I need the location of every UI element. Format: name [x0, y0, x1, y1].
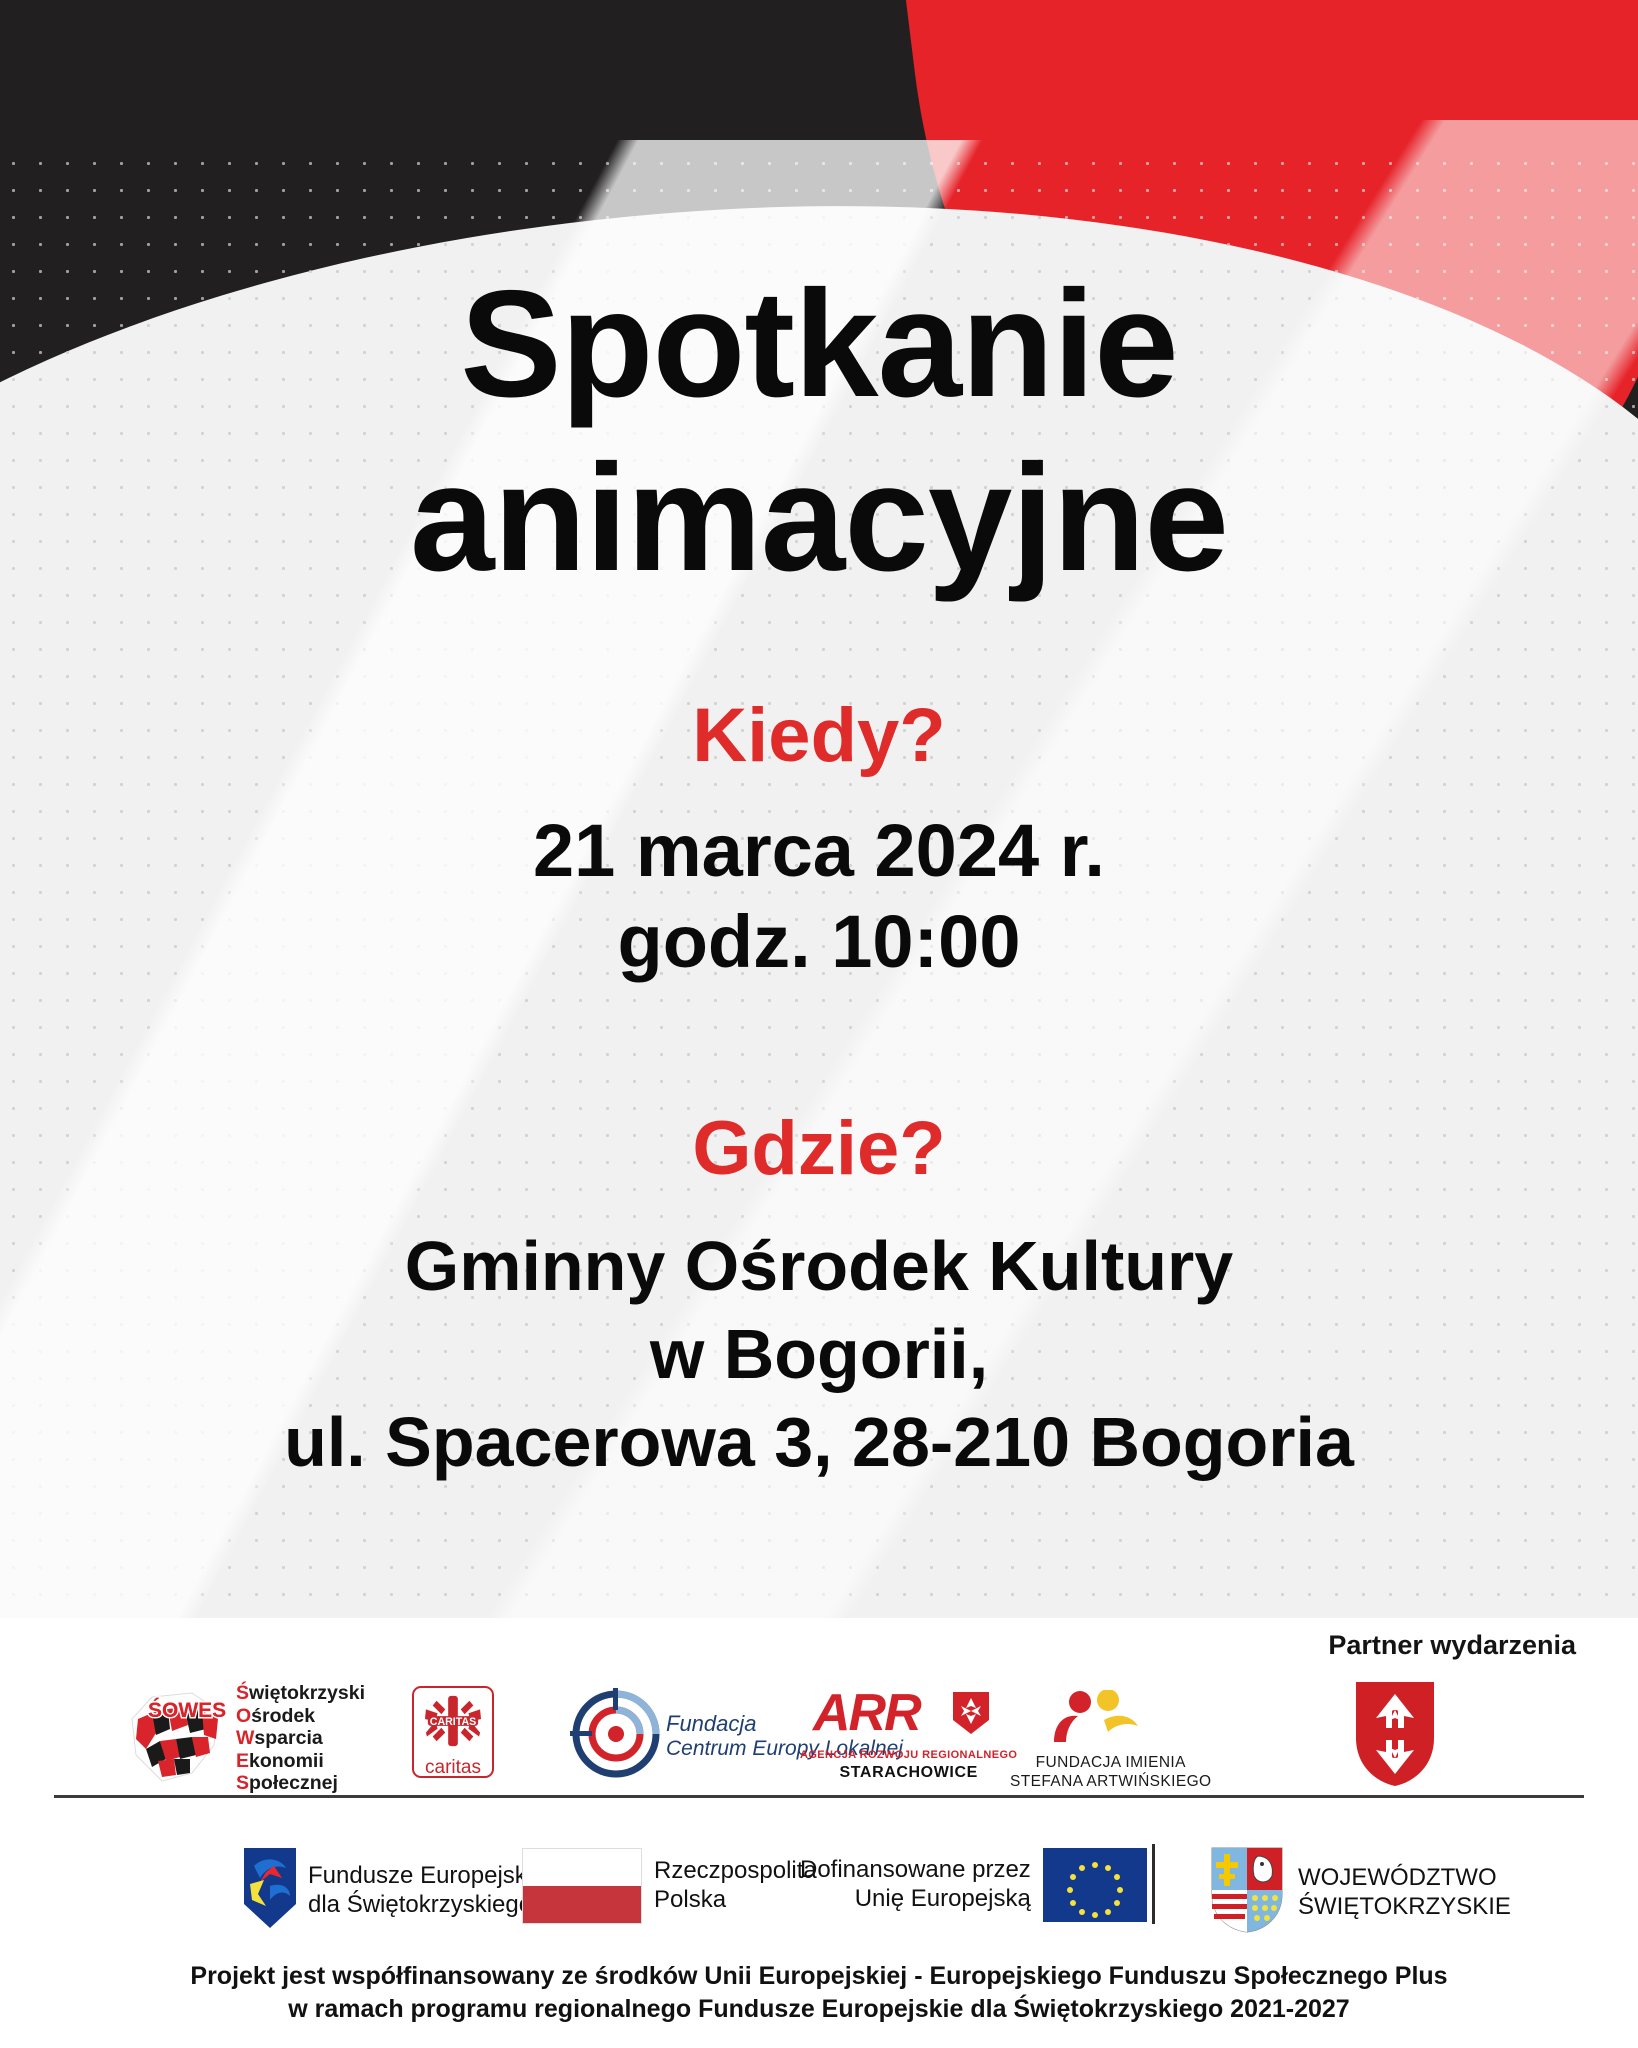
- logo-rzeczpospolita-polska: Rzeczpospolita Polska: [522, 1848, 817, 1924]
- funding-disclaimer-line-1: Projekt jest współfinansowany ze środków…: [0, 1960, 1638, 1993]
- fundacja-artwinskiego-wordmark: FUNDACJA IMIENIA STEFANA ARTWIŃSKIEGO: [1010, 1753, 1212, 1792]
- svg-text:ARR: ARR: [811, 1684, 922, 1742]
- swietokrzyskie-coat-of-arms-icon: [1210, 1846, 1284, 1939]
- rzeczpospolita-polska-line-2: Polska: [654, 1886, 817, 1915]
- sowes-wordmark: Świętokrzyski Ośrodek Wsparcia Ekonomii …: [236, 1682, 365, 1795]
- page-title: Spotkanie animacyjne: [0, 268, 1638, 594]
- fundacja-artwinskiego-line-1: FUNDACJA IMIENIA: [1010, 1753, 1212, 1772]
- wojewodztwo-swietokrzyskie-wordmark: WOJEWÓDZTWO ŚWIĘTOKRZYSKIE: [1298, 1864, 1511, 1922]
- two-people-icon: [1046, 1690, 1176, 1749]
- fundusze-europejskie-wordmark: Fundusze Europejskie dla Świętokrzyskieg…: [308, 1862, 545, 1920]
- sowes-line-5: Społecznej: [236, 1772, 365, 1795]
- logo-unia-europejska: Dofinansowane przez Unię Europejską: [800, 1848, 1147, 1922]
- where-heading: Gdzie?: [0, 1105, 1638, 1192]
- eu-flag-icon: [1043, 1848, 1147, 1922]
- fundacja-cel-target-icon: [570, 1688, 662, 1785]
- event-poster: Spotkanie animacyjne Kiedy? 21 marca 202…: [0, 0, 1638, 2048]
- vertical-divider: [1152, 1844, 1155, 1924]
- unia-europejska-wordmark: Dofinansowane przez Unię Europejską: [800, 1856, 1031, 1914]
- fundusze-europejskie-icon: [240, 1848, 296, 1933]
- when-details: 21 marca 2024 r. godz. 10:00: [0, 805, 1638, 987]
- arr-subtitle-2: STARACHOWICE: [839, 1764, 977, 1782]
- title-line-1: Spotkanie: [460, 259, 1177, 429]
- bogoria-coat-of-arms-icon: [1352, 1680, 1438, 1788]
- svg-text:CARITAS: CARITAS: [430, 1716, 476, 1728]
- when-heading: Kiedy?: [0, 692, 1638, 779]
- logo-sowes: ŚOWES ŚOWES Świętokrzyski Ośrodek Wsparc…: [122, 1682, 365, 1795]
- sowes-line-1: Świętokrzyski: [236, 1682, 365, 1705]
- sowes-map-icon: ŚOWES ŚOWES: [122, 1689, 230, 1789]
- logo-fundusze-europejskie: Fundusze Europejskie dla Świętokrzyskieg…: [240, 1848, 545, 1933]
- caritas-wordmark: caritas: [425, 1757, 481, 1779]
- funding-disclaimer: Projekt jest współfinansowany ze środków…: [0, 1960, 1638, 2026]
- logo-fundacja-artwinskiego: FUNDACJA IMIENIA STEFANA ARTWIŃSKIEGO: [1010, 1690, 1212, 1792]
- partner-label: Partner wydarzenia: [1328, 1630, 1576, 1661]
- rzeczpospolita-polska-wordmark: Rzeczpospolita Polska: [654, 1857, 817, 1915]
- fundacja-artwinskiego-line-2: STEFANA ARTWIŃSKIEGO: [1010, 1772, 1212, 1791]
- divider-line: [54, 1795, 1584, 1798]
- event-date: 21 marca 2024 r.: [0, 805, 1638, 896]
- rzeczpospolita-polska-line-1: Rzeczpospolita: [654, 1857, 817, 1886]
- logo-caritas: CARITAS caritas: [412, 1686, 494, 1778]
- arr-subtitle-1: AGENCJA ROZWOJU REGIONALNEGO: [800, 1749, 1017, 1761]
- sowes-line-2: Ośrodek: [236, 1705, 365, 1728]
- wojewodztwo-swietokrzyskie-line-2: ŚWIĘTOKRZYSKIE: [1298, 1893, 1511, 1922]
- venue-city: w Bogorii,: [0, 1310, 1638, 1398]
- funding-disclaimer-line-2: w ramach programu regionalnego Fundusze …: [0, 1993, 1638, 2026]
- event-time: godz. 10:00: [0, 896, 1638, 987]
- poland-flag-icon: [522, 1848, 642, 1924]
- fundusze-europejskie-line-1: Fundusze Europejskie: [308, 1862, 545, 1891]
- caritas-cross-icon: CARITAS: [424, 1692, 482, 1755]
- where-details: Gminny Ośrodek Kultury w Bogorii, ul. Sp…: [0, 1222, 1638, 1487]
- svg-text:ŚOWES: ŚOWES: [148, 1698, 226, 1722]
- venue-name: Gminny Ośrodek Kultury: [0, 1222, 1638, 1310]
- wojewodztwo-swietokrzyskie-line-1: WOJEWÓDZTWO: [1298, 1864, 1511, 1893]
- unia-europejska-line-1: Dofinansowane przez: [800, 1856, 1031, 1885]
- eu-funding-logo-strip: Fundusze Europejskie dla Świętokrzyskieg…: [0, 1838, 1638, 1948]
- logo-wojewodztwo-swietokrzyskie: WOJEWÓDZTWO ŚWIĘTOKRZYSKIE: [1210, 1846, 1511, 1939]
- arr-acronym-icon: ARR: [811, 1684, 1007, 1747]
- unia-europejska-line-2: Unię Europejską: [800, 1885, 1031, 1914]
- sowes-line-3: Wsparcia: [236, 1727, 365, 1750]
- poster-content: Spotkanie animacyjne Kiedy? 21 marca 202…: [0, 0, 1638, 2048]
- venue-address: ul. Spacerowa 3, 28-210 Bogoria: [0, 1398, 1638, 1486]
- partner-logo-strip: ŚOWES ŚOWES Świętokrzyski Ośrodek Wsparc…: [0, 1682, 1638, 1792]
- fundusze-europejskie-line-2: dla Świętokrzyskiego: [308, 1891, 545, 1920]
- logo-arr: ARR AGENCJA ROZWOJU REGIONALNEGO STARACH…: [800, 1684, 1017, 1782]
- sowes-line-4: Ekonomii: [236, 1750, 365, 1773]
- title-line-2: animacyjne: [0, 442, 1638, 594]
